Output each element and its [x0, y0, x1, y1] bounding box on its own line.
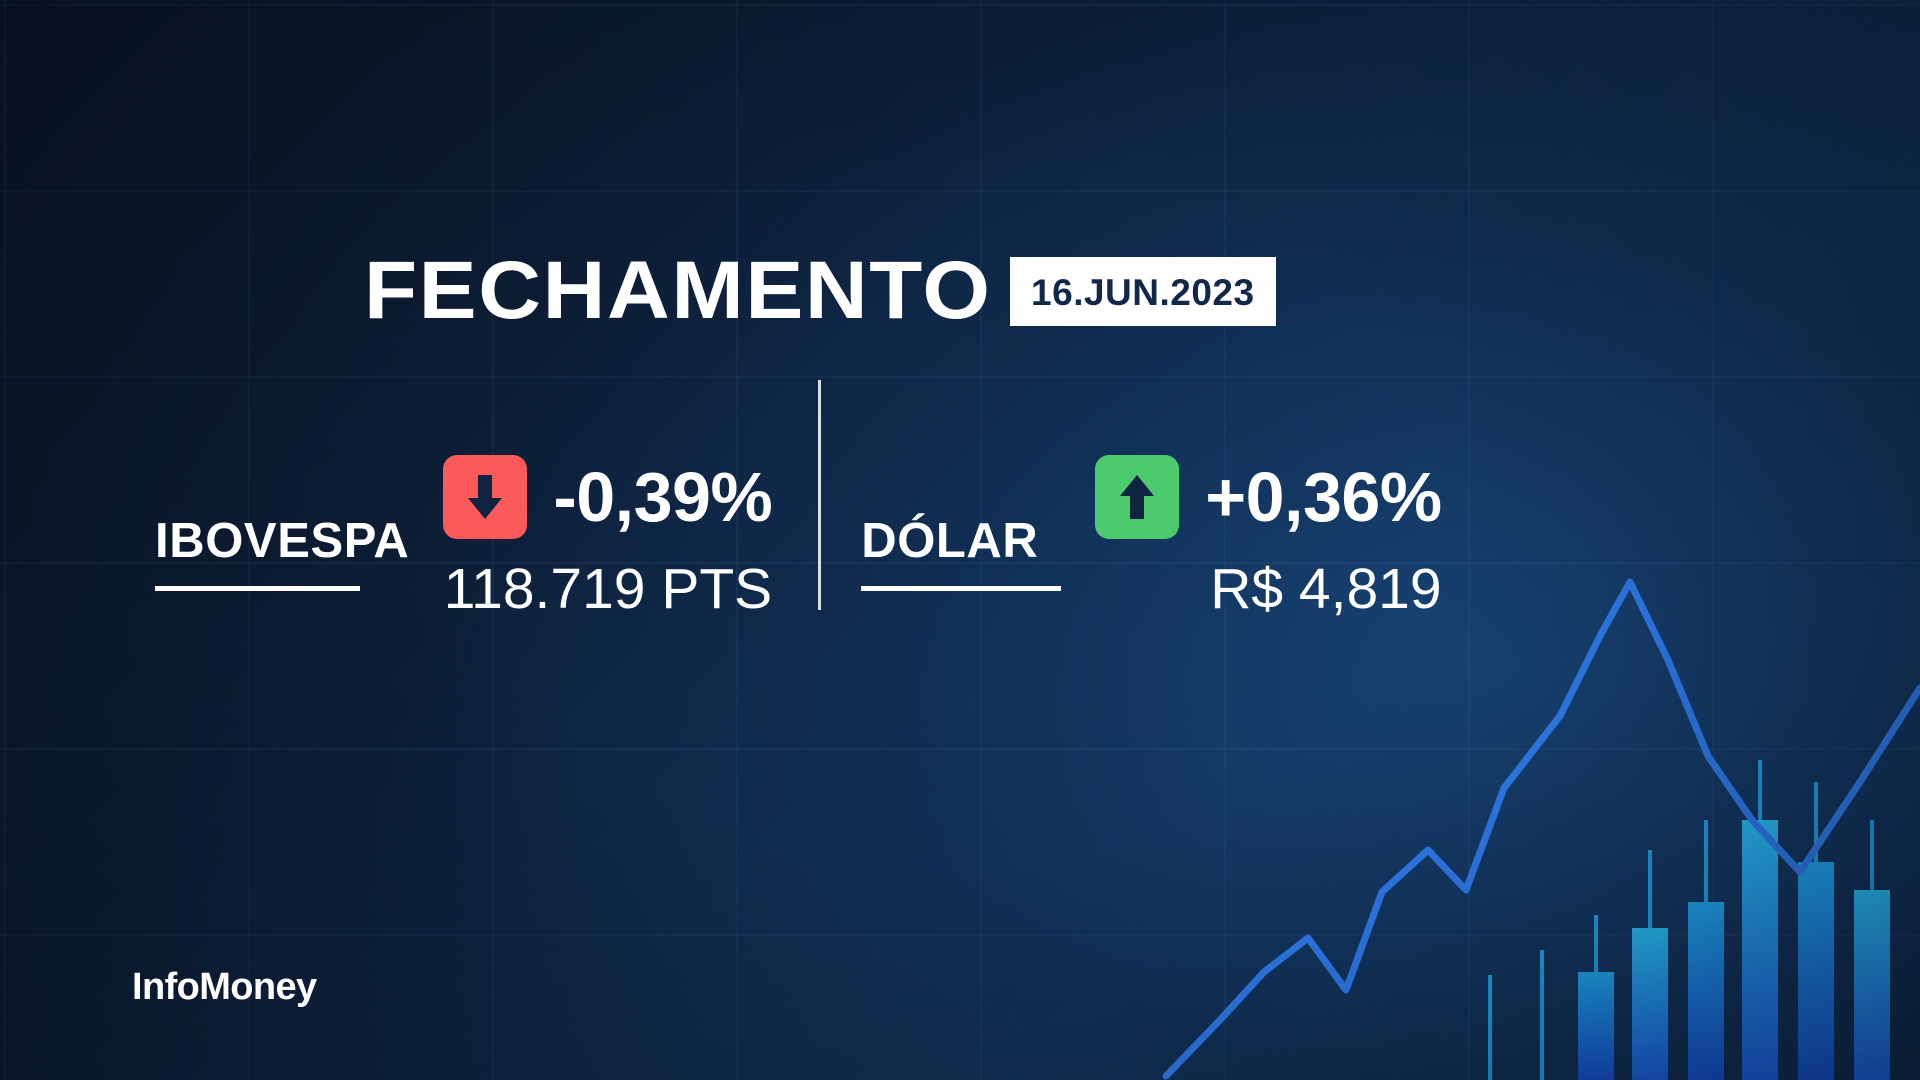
market-indicators: IBOVESPA -0,39% 118.719 PTS D [155, 455, 1442, 618]
indicator-dolar-name: DÓLAR [861, 517, 1061, 566]
indicator-dolar-underline [861, 586, 1061, 591]
indicator-dolar-label-group: DÓLAR [861, 455, 1061, 591]
title-row: FECHAMENTO 16.JUN.2023 [364, 250, 1276, 332]
indicator-ibovespa: IBOVESPA -0,39% 118.719 PTS [155, 455, 772, 618]
indicator-dolar-change-row: +0,36% [1095, 455, 1441, 539]
arrow-up-icon [1095, 455, 1179, 539]
indicator-dolar: DÓLAR +0,36% R$ 4,819 [861, 455, 1441, 618]
indicator-dolar-value: R$ 4,819 [1210, 561, 1441, 618]
indicator-ibovespa-underline [155, 586, 360, 591]
indicator-ibovespa-change-row: -0,39% [443, 455, 772, 539]
infomoney-logo: InfoMoney [132, 968, 317, 1006]
indicator-ibovespa-percent: -0,39% [553, 462, 772, 532]
indicator-ibovespa-name: IBOVESPA [155, 517, 409, 566]
date-badge: 16.JUN.2023 [1010, 257, 1276, 326]
indicator-dolar-percent: +0,36% [1205, 462, 1441, 532]
page-title: FECHAMENTO [364, 250, 992, 332]
indicator-ibovespa-value: 118.719 PTS [444, 561, 773, 618]
indicator-divider [818, 380, 821, 610]
arrow-down-icon [443, 455, 527, 539]
indicator-ibovespa-label-group: IBOVESPA [155, 455, 409, 591]
closing-summary-graphic: FECHAMENTO 16.JUN.2023 IBOVESPA -0,39% [0, 0, 1920, 1080]
indicator-dolar-values: +0,36% R$ 4,819 [1095, 455, 1441, 618]
indicator-ibovespa-values: -0,39% 118.719 PTS [443, 455, 772, 618]
